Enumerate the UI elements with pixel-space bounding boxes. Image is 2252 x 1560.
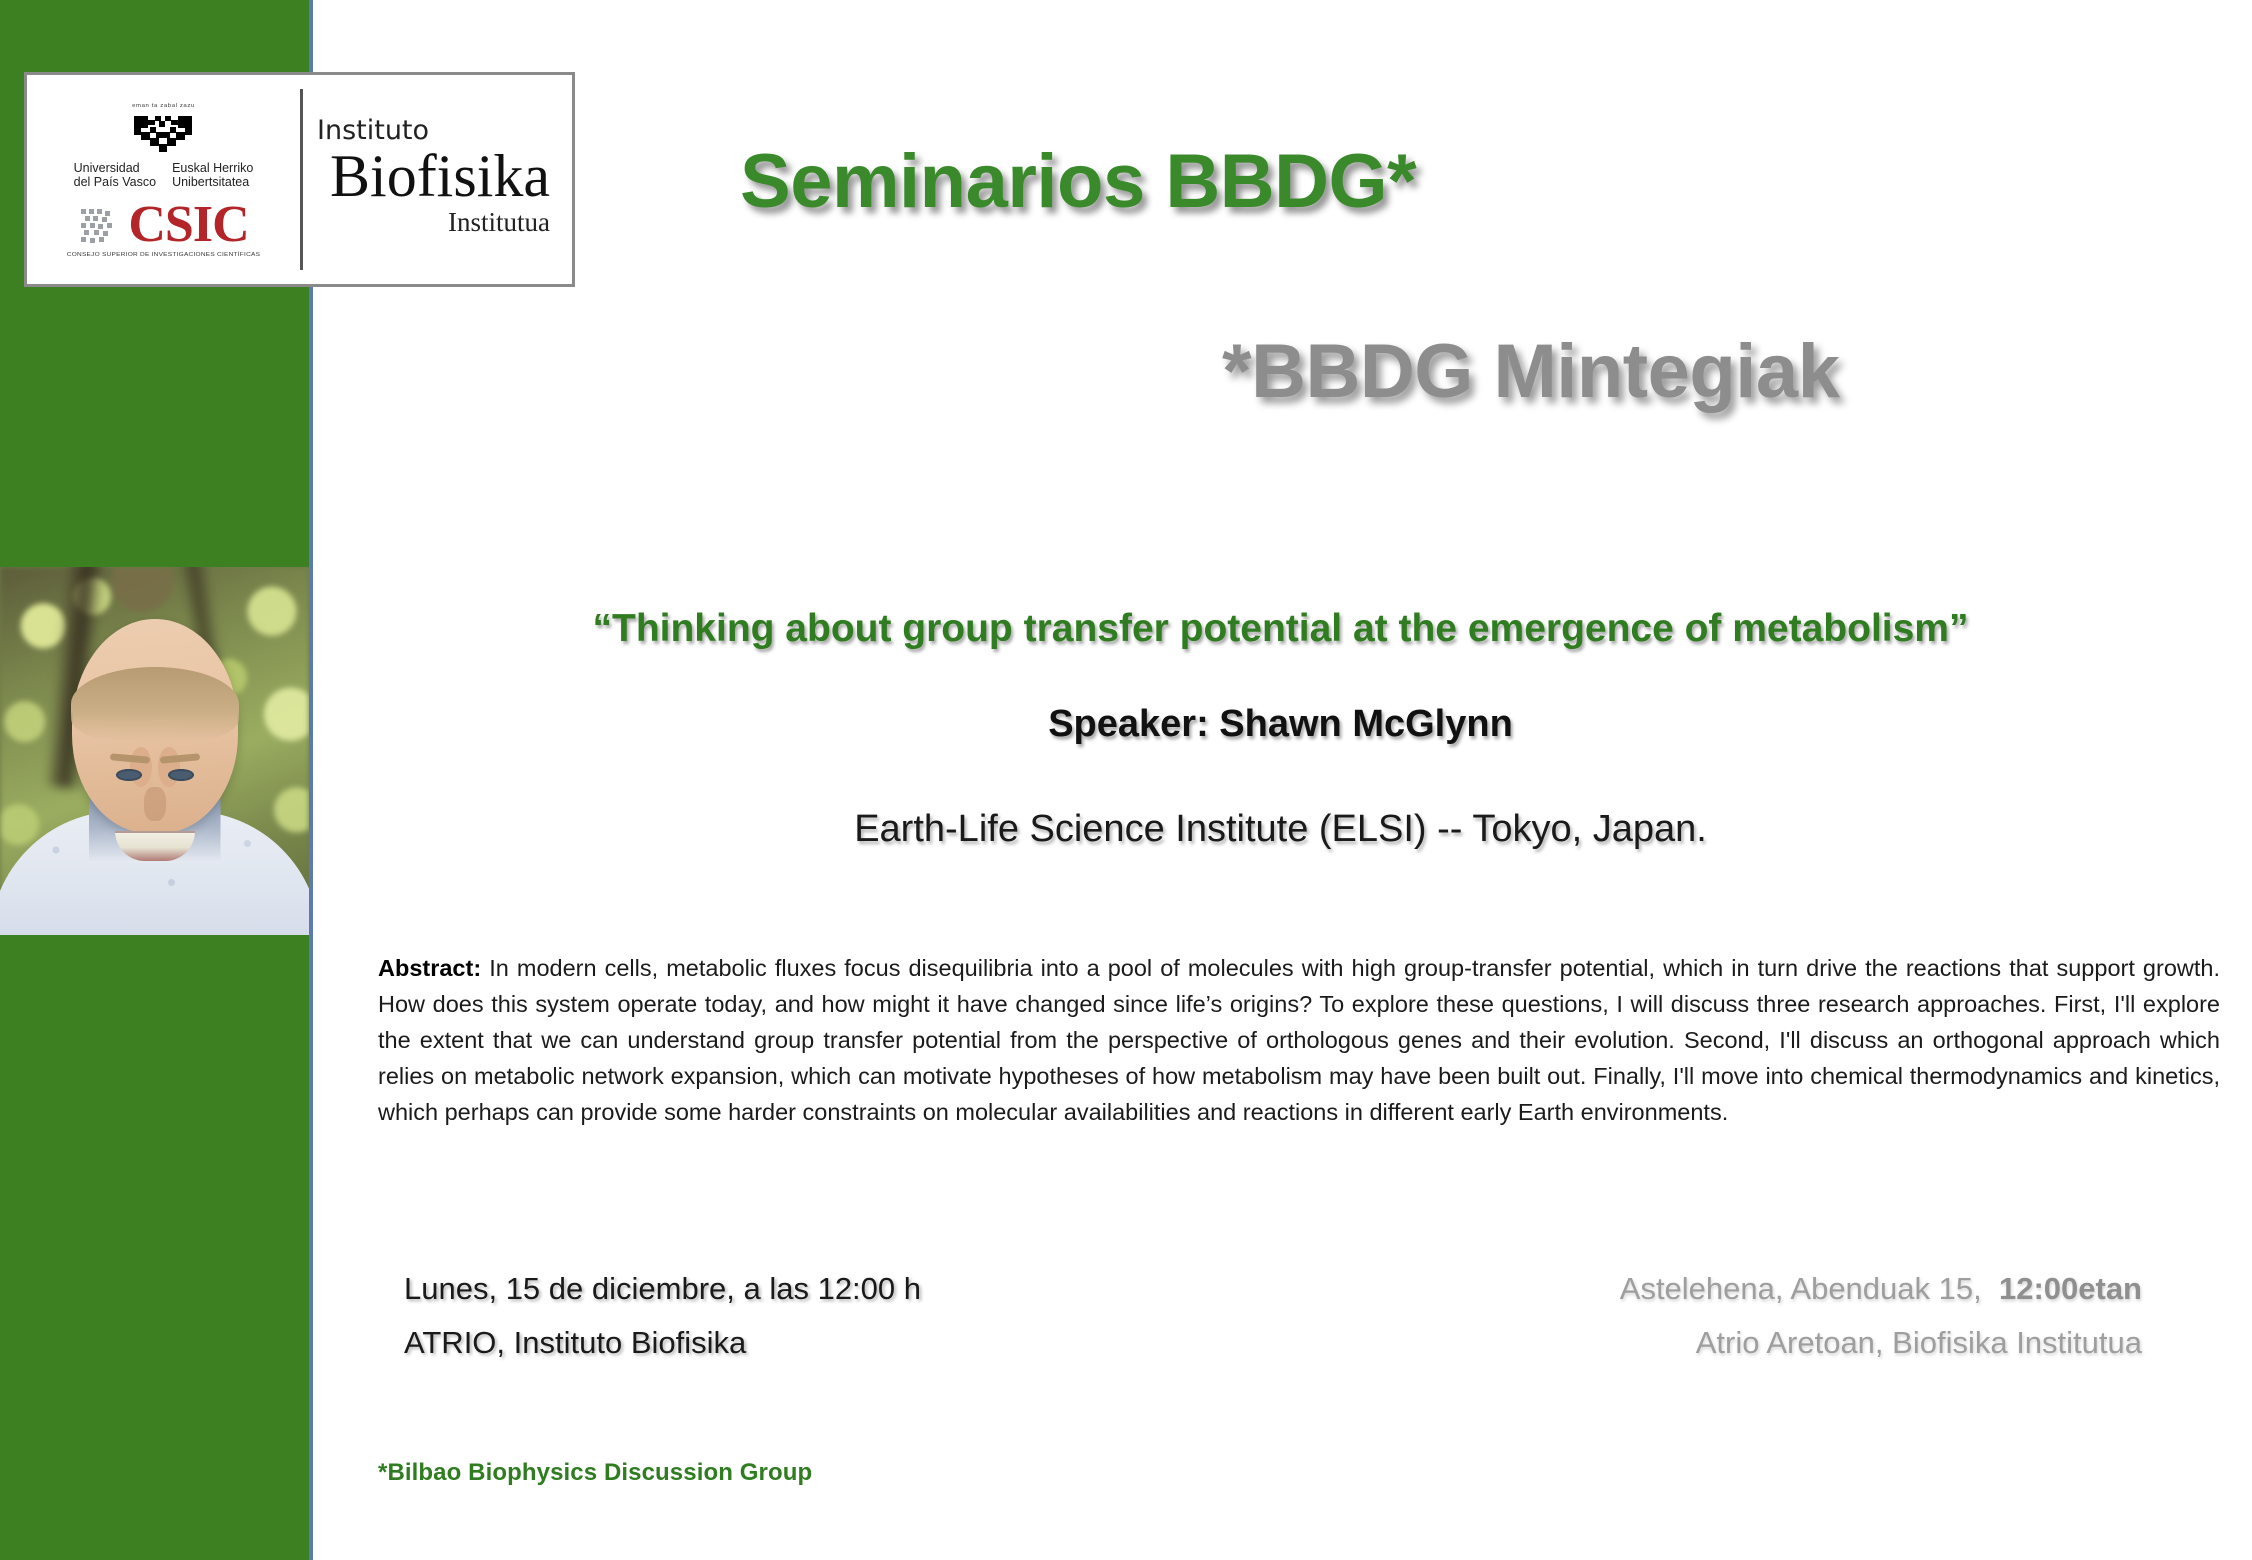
poster-title-basque: *BBDG Mintegiak — [1222, 328, 1839, 415]
speaker-name: Speaker: Shawn McGlynn — [309, 703, 2252, 746]
biofisika-line-institutua: Institutua — [448, 209, 550, 236]
event-details-spanish: Lunes, 15 de diciembre, a las 12:00 h AT… — [404, 1262, 921, 1370]
photo-eye-left — [168, 769, 194, 781]
event-venue-spanish: ATRIO, Instituto Biofisika — [404, 1316, 921, 1370]
csic-wordmark: CSIC — [128, 203, 248, 247]
csic-subtitle: CONSEJO SUPERIOR DE INVESTIGACIONES CIEN… — [67, 251, 260, 257]
photo-eye-right — [116, 769, 142, 781]
event-date-basque: Astelehena, Abenduak 15, — [1620, 1271, 1999, 1306]
ehu-name-spanish: Universidad del País Vasco — [74, 162, 156, 189]
biofisika-wordmark: Biofisika — [330, 146, 550, 206]
abstract-label: Abstract: — [378, 955, 481, 981]
csic-logo: CSIC — [78, 203, 248, 247]
speaker-portrait-photo — [0, 567, 309, 935]
ehu-emblem-icon — [126, 110, 202, 158]
upv-ehu-csic-logo-group: eman ta zabal zazu — [27, 75, 300, 284]
footnote-bbdg: *Bilbao Biophysics Discussion Group — [378, 1459, 812, 1487]
photo-nose — [144, 787, 166, 821]
biofisika-logo: Instituto Biofisika Institutua — [303, 75, 572, 284]
photo-hair — [71, 667, 239, 741]
photo-ear-left — [130, 747, 152, 787]
abstract-body: In modern cells, metabolic fluxes focus … — [378, 955, 2220, 1125]
event-time-basque: 12:00etan — [1999, 1271, 2142, 1306]
event-details-basque: Astelehena, Abenduak 15, 12:00etan Atrio… — [1620, 1262, 2142, 1370]
seminar-poster: eman ta zabal zazu — [0, 0, 2252, 1560]
ehu-name-basque: Euskal Herriko Unibertsitatea — [172, 162, 253, 189]
event-datetime-basque: Astelehena, Abenduak 15, 12:00etan — [1620, 1262, 2142, 1316]
talk-title: “Thinking about group transfer potential… — [309, 607, 2252, 651]
csic-snowflake-icon — [78, 206, 120, 248]
poster-title-spanish: Seminarios BBDG* — [740, 138, 1416, 225]
abstract-block: Abstract: In modern cells, metabolic flu… — [378, 950, 2220, 1130]
event-datetime-spanish: Lunes, 15 de diciembre, a las 12:00 h — [404, 1262, 921, 1316]
photo-face — [72, 619, 238, 833]
biofisika-line-instituto: Instituto — [317, 117, 429, 144]
speaker-affiliation: Earth-Life Science Institute (ELSI) -- T… — [309, 808, 2252, 851]
institution-logo-box: eman ta zabal zazu — [24, 72, 575, 287]
photo-ear-right — [158, 747, 180, 787]
ehu-name-block: Universidad del País Vasco Euskal Herrik… — [74, 162, 254, 189]
event-venue-basque: Atrio Aretoan, Biofisika Institutua — [1620, 1316, 2142, 1370]
ehu-tagline: eman ta zabal zazu — [132, 104, 195, 109]
